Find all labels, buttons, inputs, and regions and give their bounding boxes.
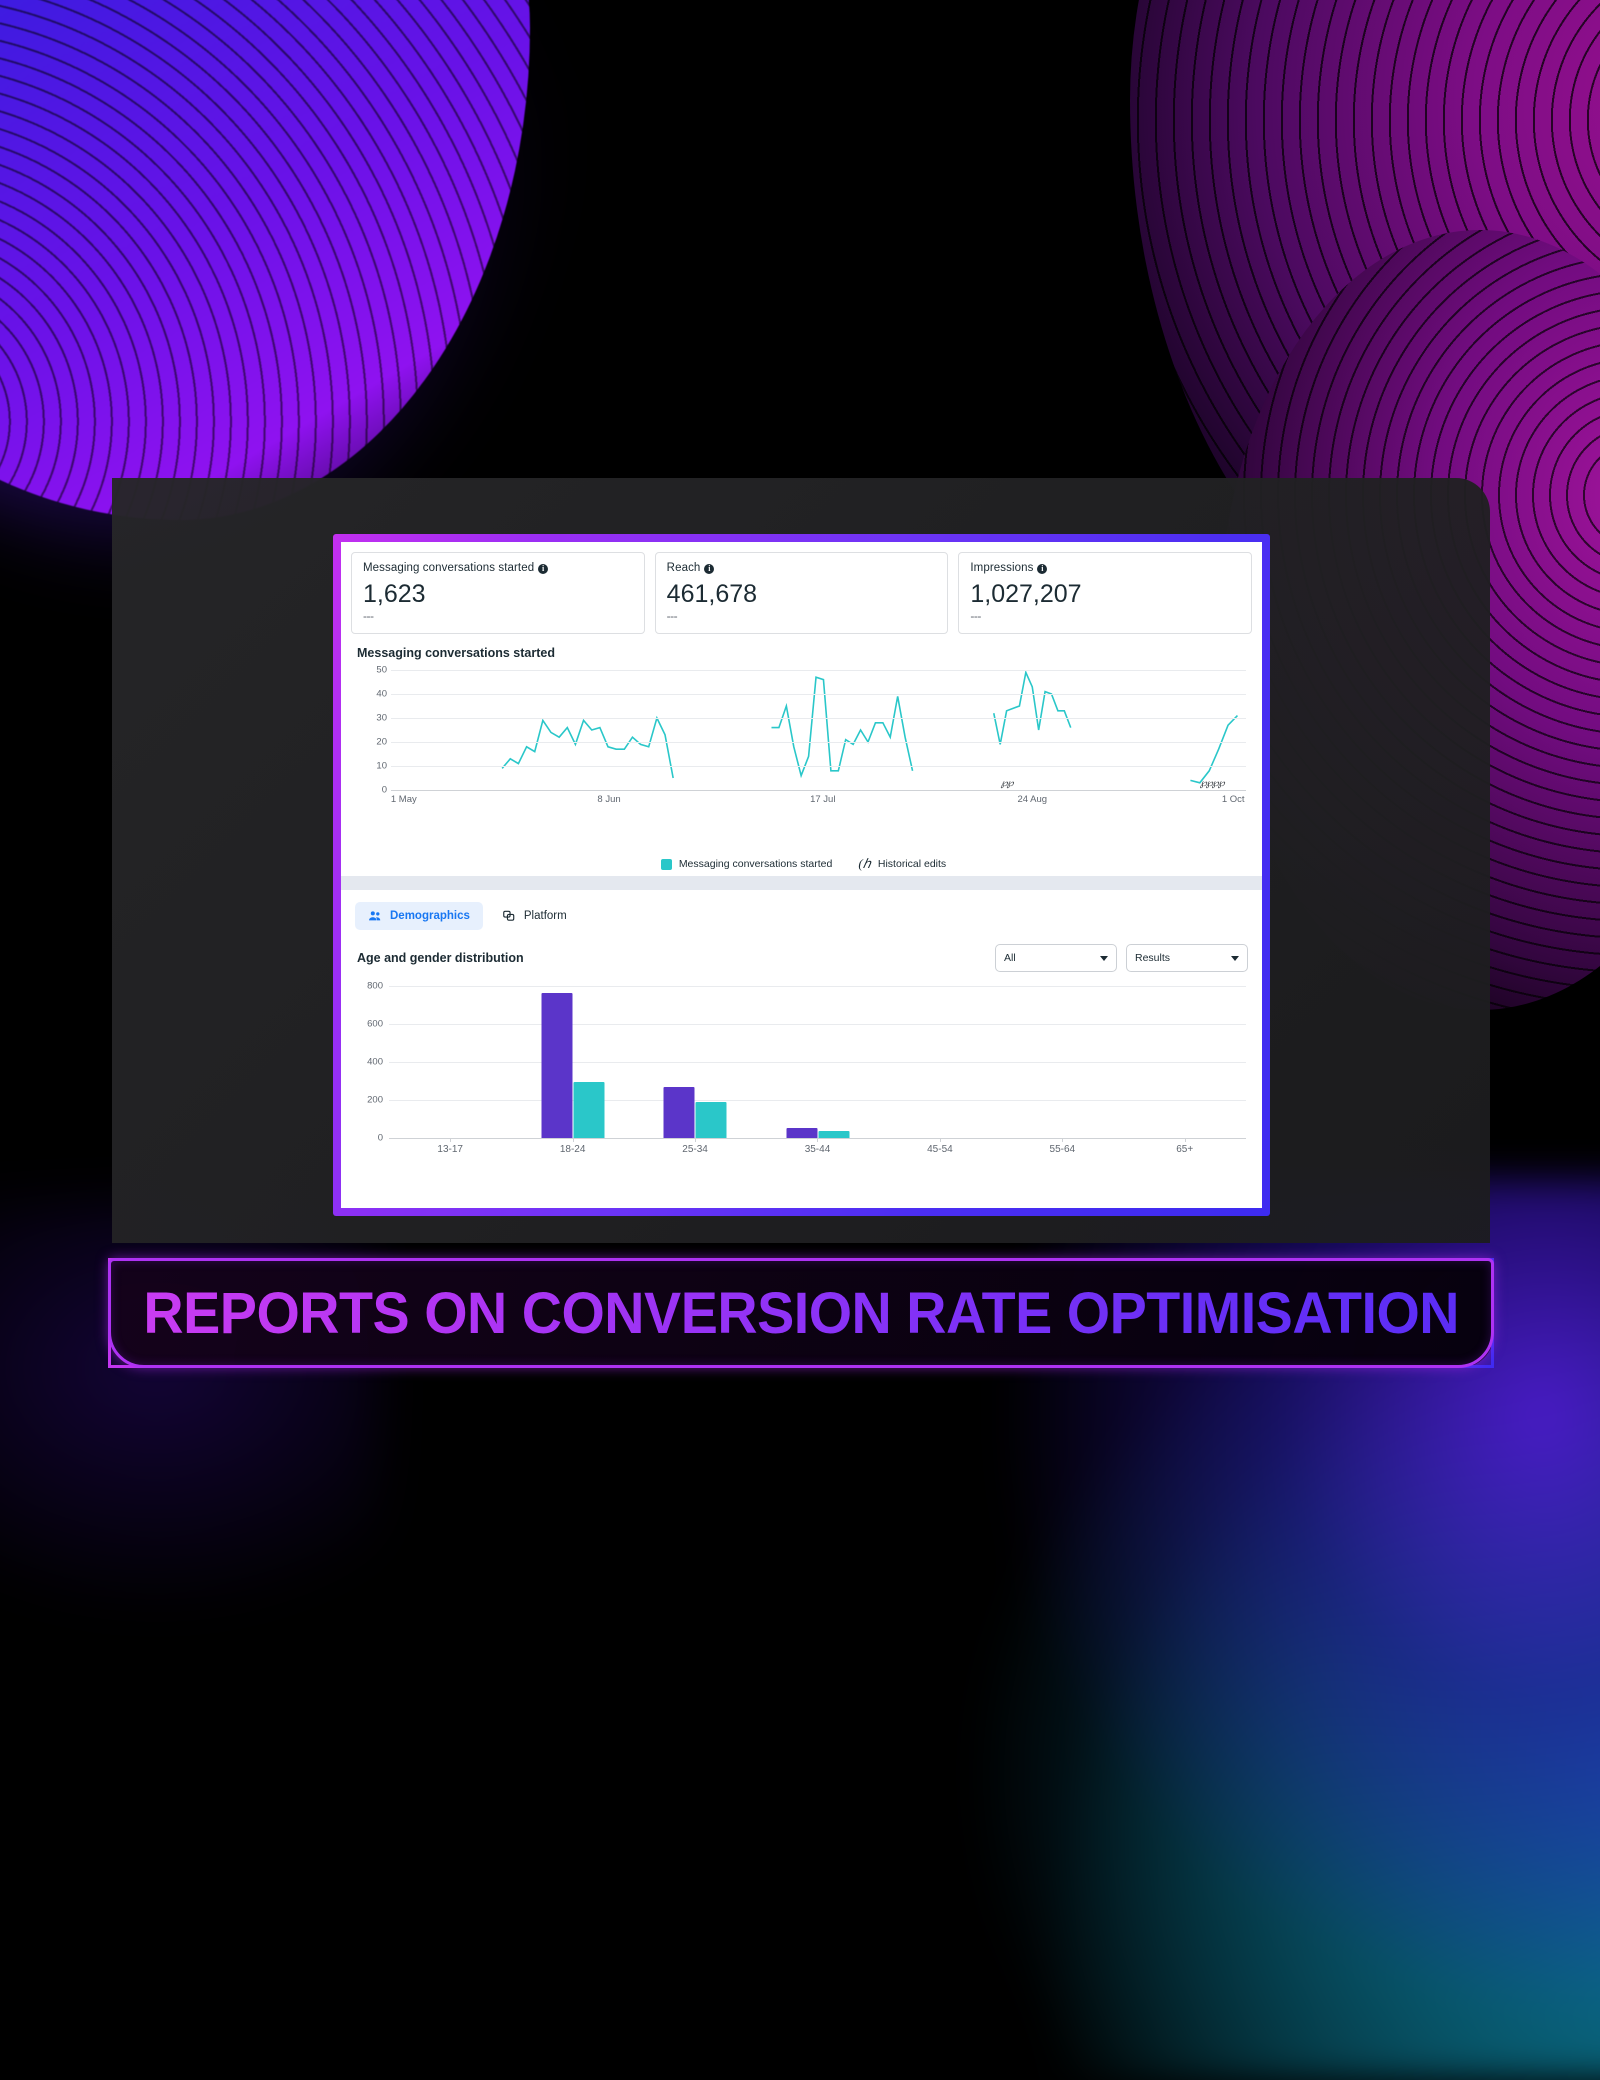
- bar-group: [541, 993, 604, 1138]
- x-category-label: 13-17: [389, 1138, 511, 1160]
- kpi-label: Messaging conversations started i: [363, 562, 633, 576]
- gridline: [389, 986, 1246, 987]
- kpi-label-text: Impressions: [970, 562, 1033, 576]
- bar[interactable]: [696, 1102, 727, 1138]
- x-category-label: 45-54: [879, 1138, 1001, 1160]
- metric-select[interactable]: Results: [1126, 944, 1248, 972]
- x-tick-label: 24 Aug: [1017, 794, 1047, 805]
- x-category-label: 35-44: [756, 1138, 878, 1160]
- gridline: [391, 670, 1246, 671]
- bar[interactable]: [786, 1128, 817, 1138]
- metric-select-value: Results: [1135, 952, 1170, 964]
- kpi-label: Impressions i: [970, 562, 1240, 576]
- x-category-label: 55-64: [1001, 1138, 1123, 1160]
- line-chart-section: Messaging conversations started 01020304…: [341, 634, 1262, 876]
- y-tick-label: 800: [367, 981, 383, 992]
- legend-item-messaging-conversations[interactable]: Messaging conversations started: [661, 858, 833, 870]
- bar-chart: 0200400600800 13-1718-2425-3435-4445-545…: [357, 986, 1248, 1172]
- kpi-value: 1,623: [363, 581, 633, 607]
- y-tick-label: 0: [382, 785, 387, 796]
- x-category-label: 65+: [1124, 1138, 1246, 1160]
- kpi-card-reach[interactable]: Reach i 461,678 ---: [655, 552, 949, 634]
- kpi-card-impressions[interactable]: Impressions i 1,027,207 ---: [958, 552, 1252, 634]
- line-series-path: [771, 677, 912, 775]
- breakdown-tabs: Demographics Platform: [341, 890, 1262, 930]
- tab-label: Demographics: [390, 910, 470, 922]
- bar-group: [786, 1128, 849, 1138]
- gridline: [389, 1062, 1246, 1063]
- people-icon: [368, 909, 382, 923]
- y-tick-label: 30: [376, 713, 387, 724]
- demographics-controls: All Results: [995, 944, 1248, 972]
- chevron-down-icon: [1231, 956, 1239, 961]
- legend-item-historical-edits[interactable]: (ℎ Historical edits: [858, 856, 946, 872]
- square-swatch-icon: [661, 859, 672, 870]
- y-tick-label: 400: [367, 1057, 383, 1068]
- kpi-label-text: Reach: [667, 562, 701, 576]
- legend-label: Messaging conversations started: [679, 858, 833, 870]
- x-category-label: 25-34: [634, 1138, 756, 1160]
- x-tick-label: 1 Oct: [1222, 794, 1245, 805]
- section-divider: [341, 876, 1262, 890]
- bar-chart-x-axis: 13-1718-2425-3435-4445-5455-6465+: [389, 1138, 1246, 1160]
- line-series-path: [1190, 716, 1237, 783]
- y-tick-label: 10: [376, 761, 387, 772]
- kpi-row: Messaging conversations started i 1,623 …: [341, 542, 1262, 634]
- historical-edits-marker-icon[interactable]: ℘℘℘℘: [1200, 778, 1224, 789]
- kpi-label-text: Messaging conversations started: [363, 562, 534, 576]
- bar-chart-plot-area: [389, 986, 1246, 1138]
- line-chart-y-axis: 01020304050: [357, 670, 387, 790]
- bar[interactable]: [541, 993, 572, 1138]
- gridline: [389, 1100, 1246, 1101]
- kpi-subtext: ---: [970, 609, 1240, 623]
- y-tick-label: 40: [376, 689, 387, 700]
- bar[interactable]: [664, 1087, 695, 1138]
- info-icon[interactable]: i: [1037, 564, 1047, 574]
- gridline: [391, 742, 1246, 743]
- kpi-value: 461,678: [667, 581, 937, 607]
- gridline: [389, 1024, 1246, 1025]
- line-chart-legend: Messaging conversations started (ℎ Histo…: [357, 856, 1250, 876]
- layers-icon: [502, 909, 516, 923]
- y-tick-label: 0: [378, 1133, 383, 1144]
- y-tick-label: 20: [376, 737, 387, 748]
- line-series-path: [502, 718, 673, 778]
- x-tick-label: 8 Jun: [597, 794, 620, 805]
- bar-chart-y-axis: 0200400600800: [357, 986, 383, 1138]
- x-category-label: 18-24: [511, 1138, 633, 1160]
- historical-edits-icon: (ℎ: [858, 856, 871, 872]
- dashboard-screenshot: Messaging conversations started i 1,623 …: [341, 542, 1262, 1208]
- kpi-subtext: ---: [363, 609, 633, 623]
- bar[interactable]: [573, 1082, 604, 1138]
- chevron-down-icon: [1100, 956, 1108, 961]
- line-chart-series-svg: [391, 670, 1246, 790]
- gridline: [391, 766, 1246, 767]
- line-chart-title: Messaging conversations started: [357, 646, 1250, 660]
- historical-edits-marker-icon[interactable]: ℘℘: [1001, 778, 1013, 789]
- caption-banner: REPORTS ON CONVERSION RATE OPTIMISATION: [108, 1258, 1494, 1368]
- info-icon[interactable]: i: [538, 564, 548, 574]
- demographics-header: Age and gender distribution All Results: [341, 930, 1262, 972]
- banner-caption: REPORTS ON CONVERSION RATE OPTIMISATION: [143, 1280, 1459, 1347]
- line-chart: 01020304050 1 May8 Jun17 Jul24 Aug1 Oct℘…: [357, 670, 1250, 822]
- kpi-value: 1,027,207: [970, 581, 1240, 607]
- y-tick-label: 600: [367, 1019, 383, 1030]
- y-tick-label: 200: [367, 1095, 383, 1106]
- breakdown-select-value: All: [1004, 952, 1016, 964]
- gridline: [391, 718, 1246, 719]
- line-series-path: [994, 672, 1071, 744]
- tab-platform[interactable]: Platform: [489, 902, 580, 930]
- kpi-subtext: ---: [667, 609, 937, 623]
- gridline: [391, 790, 1246, 791]
- tab-demographics[interactable]: Demographics: [355, 902, 483, 930]
- dashboard-frame: Messaging conversations started i 1,623 …: [333, 534, 1270, 1216]
- x-tick-label: 1 May: [391, 794, 417, 805]
- x-tick-label: 17 Jul: [810, 794, 835, 805]
- kpi-card-messaging-conversations[interactable]: Messaging conversations started i 1,623 …: [351, 552, 645, 634]
- line-chart-plot-area: 1 May8 Jun17 Jul24 Aug1 Oct℘℘℘℘℘℘: [391, 670, 1246, 790]
- top-left-gradient-blob: [0, 0, 530, 520]
- info-icon[interactable]: i: [704, 564, 714, 574]
- bar[interactable]: [818, 1131, 849, 1138]
- tab-label: Platform: [524, 910, 567, 922]
- breakdown-select[interactable]: All: [995, 944, 1117, 972]
- kpi-label: Reach i: [667, 562, 937, 576]
- y-tick-label: 50: [376, 665, 387, 676]
- demographics-title: Age and gender distribution: [357, 951, 524, 965]
- gridline: [391, 694, 1246, 695]
- bar-group: [664, 1087, 727, 1138]
- legend-label: Historical edits: [878, 858, 946, 870]
